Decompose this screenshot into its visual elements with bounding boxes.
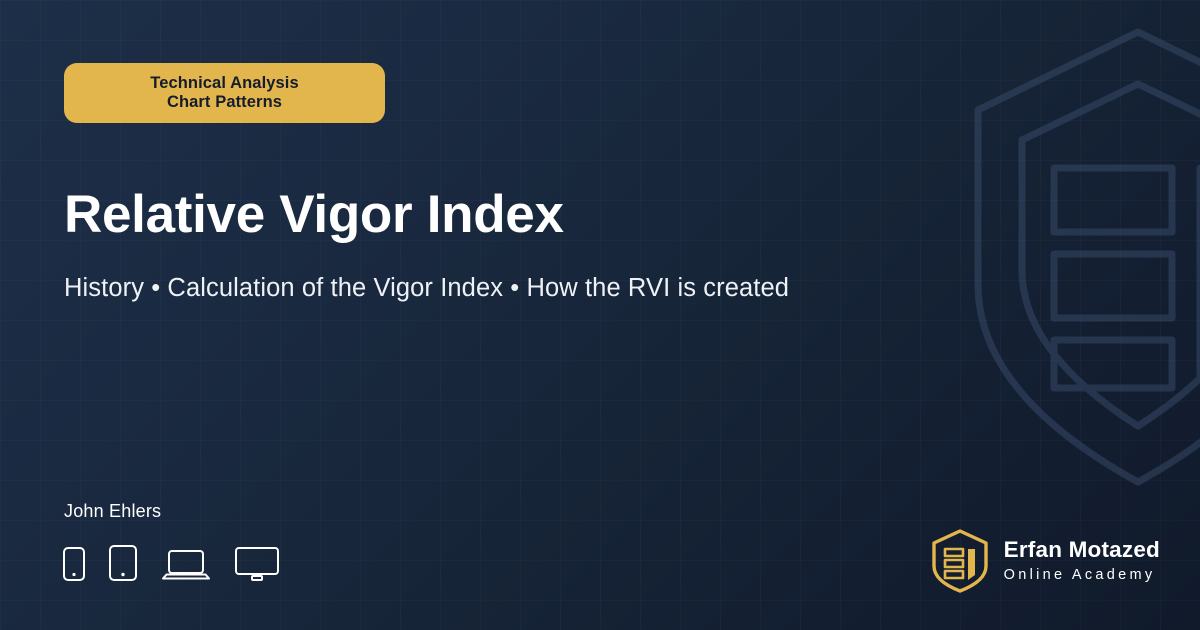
tablet-icon <box>108 544 138 582</box>
desktop-icon <box>234 546 280 582</box>
device-icon-group <box>62 544 280 582</box>
shield-monogram-icon <box>929 528 991 594</box>
brand-tagline: Online Academy <box>1004 566 1160 585</box>
page-title: Relative Vigor Index <box>64 184 564 245</box>
page-subtitle: History • Calculation of the Vigor Index… <box>64 274 789 303</box>
brand-name: Erfan Motazed <box>1004 537 1160 562</box>
badge-line-1: Technical Analysis <box>150 74 299 93</box>
shield-watermark-icon <box>958 22 1200 492</box>
brand-logo: Erfan Motazed Online Academy <box>929 528 1160 594</box>
laptop-icon <box>160 548 212 582</box>
author-name: John Ehlers <box>64 501 161 522</box>
phone-icon <box>62 546 86 582</box>
slide-canvas: Technical Analysis Chart Patterns Relati… <box>0 0 1200 630</box>
badge-line-2: Chart Patterns <box>167 93 282 112</box>
category-badge: Technical Analysis Chart Patterns <box>64 63 385 123</box>
